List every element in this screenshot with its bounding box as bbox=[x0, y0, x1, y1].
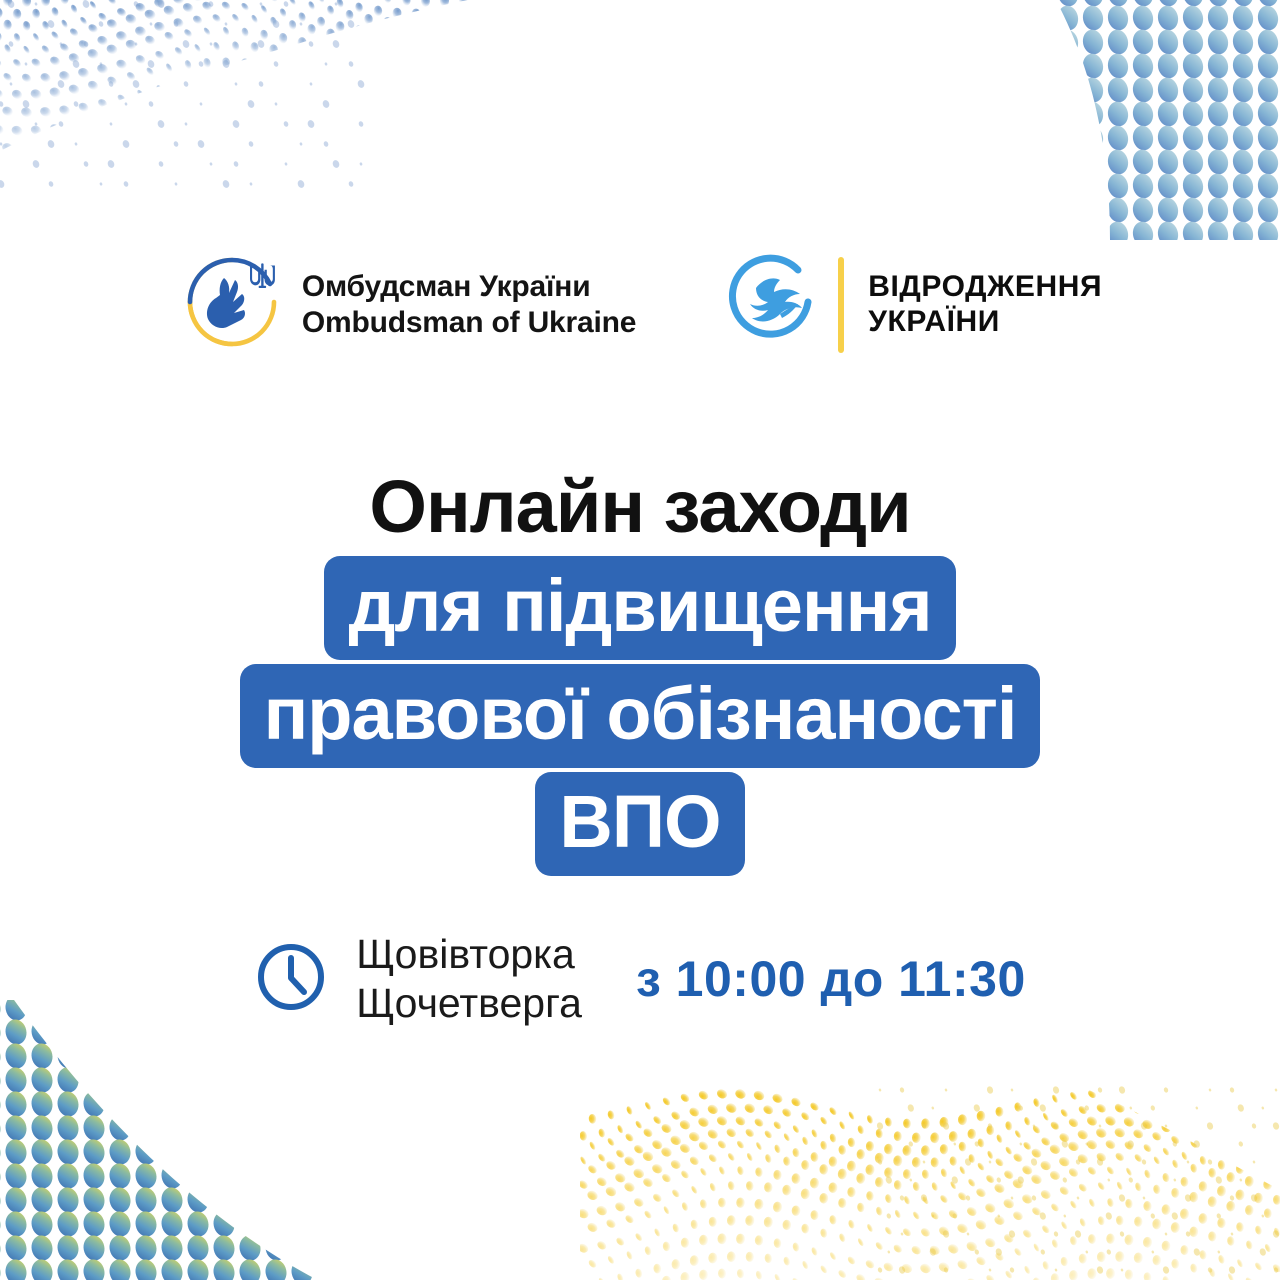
phoenix-bird-circle-icon bbox=[728, 254, 824, 355]
headline-block: Онлайн заходи для підвищення правової об… bbox=[0, 470, 1280, 876]
vidrodzhennya-logo: ВІДРОДЖЕННЯ УКРАЇНИ bbox=[728, 254, 1102, 355]
logo-divider bbox=[838, 257, 844, 353]
circle-hand-dove-trident-icon bbox=[178, 248, 286, 361]
poster-content: Омбудсман України Ombudsman of Ukraine В… bbox=[0, 0, 1280, 1280]
headline-boxed-line-3: ВПО bbox=[535, 772, 744, 876]
vidrodzhennya-label-line1: ВІДРОДЖЕННЯ bbox=[868, 270, 1102, 304]
headline-boxed-line-1: для підвищення bbox=[324, 556, 955, 660]
ombudsman-logo: Омбудсман України Ombudsman of Ukraine bbox=[178, 248, 636, 361]
schedule-block: Щовівторка Щочетверга з 10:00 до 11:30 bbox=[0, 930, 1280, 1028]
schedule-day-2: Щочетверга bbox=[356, 979, 582, 1028]
vidrodzhennya-label-line2: УКРАЇНИ bbox=[868, 305, 1102, 339]
schedule-days: Щовівторка Щочетверга bbox=[356, 930, 582, 1028]
clock-icon bbox=[254, 940, 328, 1019]
headline-boxed-line-2: правової обізнаності bbox=[240, 664, 1041, 768]
headline-plain-line: Онлайн заходи bbox=[369, 470, 910, 544]
ombudsman-label-uk: Омбудсман України bbox=[302, 269, 636, 304]
schedule-day-1: Щовівторка bbox=[356, 930, 582, 979]
poster-canvas: Омбудсман України Ombudsman of Ukraine В… bbox=[0, 0, 1280, 1280]
schedule-time-range: з 10:00 до 11:30 bbox=[636, 950, 1026, 1008]
ombudsman-label-en: Ombudsman of Ukraine bbox=[302, 305, 636, 340]
vidrodzhennya-logo-text: ВІДРОДЖЕННЯ УКРАЇНИ bbox=[868, 270, 1102, 338]
ombudsman-logo-text: Омбудсман України Ombudsman of Ukraine bbox=[302, 269, 636, 339]
logo-row: Омбудсман України Ombudsman of Ukraine В… bbox=[0, 248, 1280, 361]
